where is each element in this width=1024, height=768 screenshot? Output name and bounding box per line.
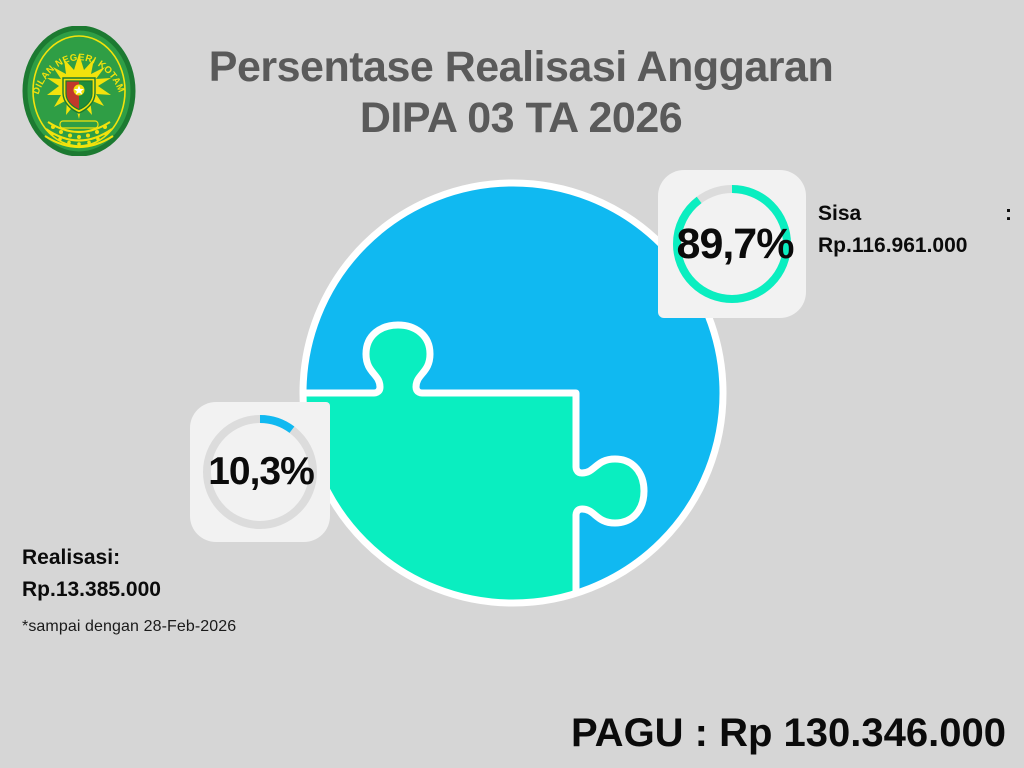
court-logo: PENGADILAN NEGERI KOTAMOBAGU [22,26,136,156]
title-line-2: DIPA 03 TA 2026 [176,93,866,144]
title-line-1: Persentase Realisasi Anggaran [176,42,866,93]
sisa-percentage-value: 89,7% [658,170,806,318]
sisa-separator: : [1005,198,1012,230]
sisa-label-row: Sisa : [818,198,1012,230]
realisasi-info-block: Realisasi: Rp.13.385.000 *sampai dengan … [22,542,352,639]
court-logo-icon: PENGADILAN NEGERI KOTAMOBAGU [22,26,136,156]
sisa-amount: Rp.116.961.000 [818,230,1012,262]
sisa-label: Sisa [818,198,861,230]
page-title: Persentase Realisasi Anggaran DIPA 03 TA… [176,42,866,143]
realisasi-note: *sampai dengan 28-Feb-2026 [22,615,352,639]
realisasi-label: Realisasi: [22,542,352,574]
sisa-percentage-card: 89,7% [658,170,806,318]
realisasi-amount: Rp.13.385.000 [22,574,352,606]
realisasi-percentage-card: 10,3% [190,402,330,542]
realisasi-percentage-value: 10,3% [190,402,330,542]
infographic-canvas: PENGADILAN NEGERI KOTAMOBAGU [0,0,1024,768]
sisa-info-block: Sisa : Rp.116.961.000 [818,198,1012,261]
pagu-total: PAGU : Rp 130.346.000 [571,711,1006,756]
